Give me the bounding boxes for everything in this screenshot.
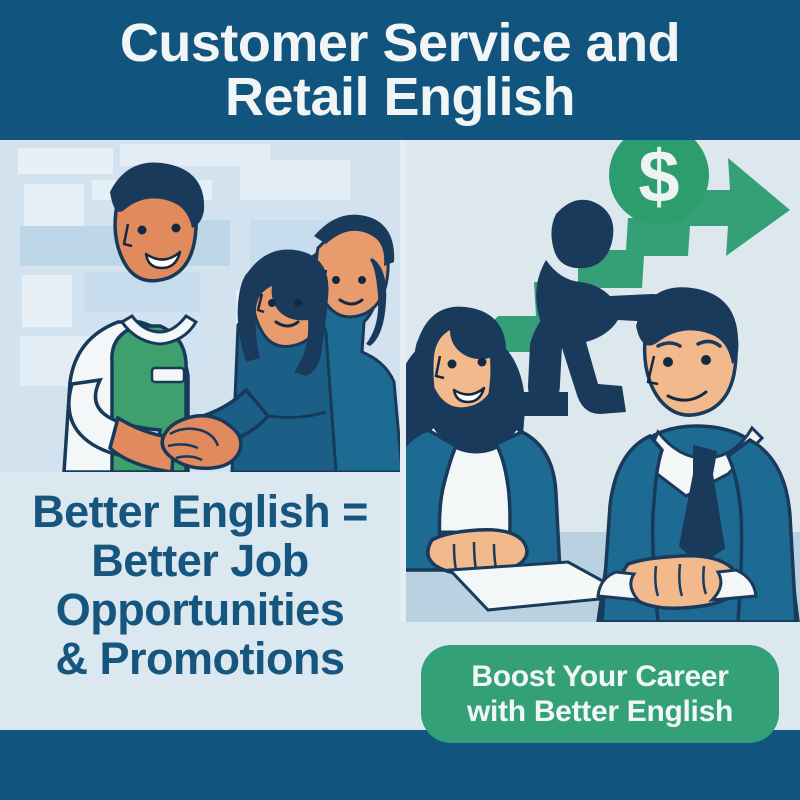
cta-line-1: Boost Your Career <box>471 659 728 694</box>
headline-line-1: Better English = <box>0 487 400 536</box>
header-band: Customer Service and Retail English <box>0 0 800 140</box>
illustration-left-retail-handshake <box>0 140 400 472</box>
panel-divider <box>400 140 406 622</box>
poster-canvas: $ <box>0 0 800 800</box>
page-title: Customer Service and Retail English <box>0 16 800 124</box>
headline-text: Better English = Better Job Opportunitie… <box>0 487 400 683</box>
cta-badge-boost-your-career[interactable]: Boost Your Career with Better English <box>421 645 779 743</box>
title-line-2: Retail English <box>0 70 800 124</box>
illustration-right-career-growth: $ <box>406 140 800 622</box>
headline-line-4: & Promotions <box>0 634 400 683</box>
headline-line-3: Opportunities <box>0 585 400 634</box>
title-line-1: Customer Service and <box>120 13 680 73</box>
cta-line-2: with Better English <box>467 694 733 729</box>
headline-line-2: Better Job <box>0 536 400 585</box>
career-scene-svg: $ <box>406 140 800 622</box>
customer-woman-figure <box>232 250 336 473</box>
retail-scene-svg <box>0 140 400 472</box>
svg-text:$: $ <box>638 140 679 218</box>
